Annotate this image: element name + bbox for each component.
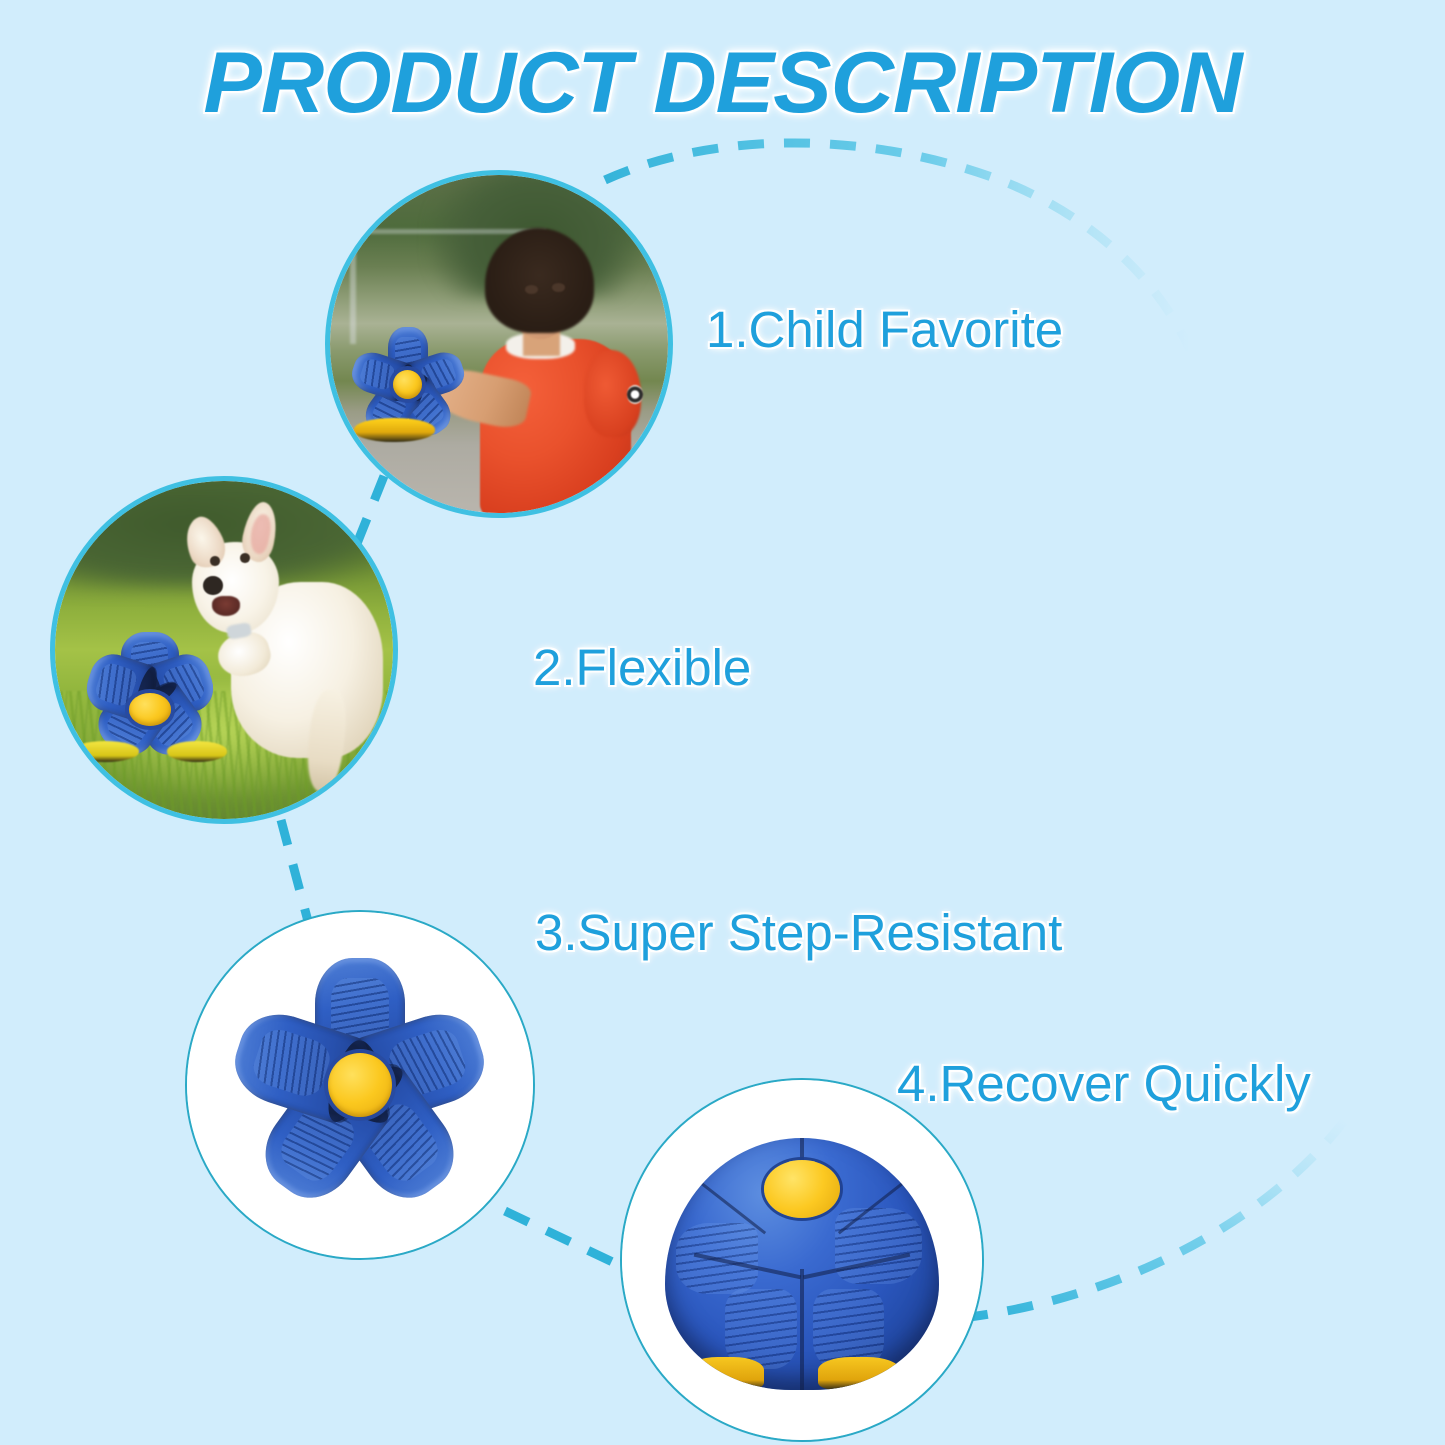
product-dome-ball — [665, 1138, 939, 1390]
dome-foot-left — [687, 1357, 764, 1390]
dog-eye-right — [240, 553, 250, 563]
disc-yellow-foot-left — [72, 741, 140, 761]
dog-eye-left — [210, 556, 220, 566]
dome-foot-right — [818, 1357, 900, 1390]
connector-arc-bottom-right — [962, 1120, 1345, 1318]
flat-disc-on-grass — [62, 647, 238, 782]
feature-label-flexible: 2.Flexible — [533, 638, 751, 697]
feature-image-super-step-resistant — [185, 910, 535, 1260]
disc-yellow-foot-right — [167, 741, 228, 761]
page-title: PRODUCT DESCRIPTION — [0, 34, 1445, 133]
dog-open-mouth — [212, 596, 240, 616]
feature-label-recover-quickly: 4.Recover Quickly — [897, 1054, 1311, 1113]
shirt-badge — [627, 385, 644, 404]
curly-hair — [485, 228, 594, 333]
dog-nose — [203, 576, 222, 594]
boy-figure — [452, 222, 668, 513]
feature-image-child-favorite — [325, 170, 673, 518]
dome-yellow-cap — [764, 1160, 841, 1218]
feature-image-flexible — [50, 476, 398, 824]
disc-center-hub — [129, 693, 171, 725]
feature-image-recover-quickly — [620, 1078, 984, 1442]
eye-left — [525, 285, 538, 294]
feature-label-super-step-resistant: 3.Super Step-Resistant — [535, 903, 1062, 962]
disc-yellow-foot — [354, 418, 435, 442]
product-description-infographic: PRODUCT DESCRIPTION — [0, 0, 1445, 1445]
dome-ridge-right — [835, 1208, 923, 1284]
product-flat-flower-disc — [225, 950, 495, 1220]
feature-label-child-favorite: 1.Child Favorite — [706, 300, 1063, 359]
dome-seam-bottom — [800, 1269, 804, 1390]
